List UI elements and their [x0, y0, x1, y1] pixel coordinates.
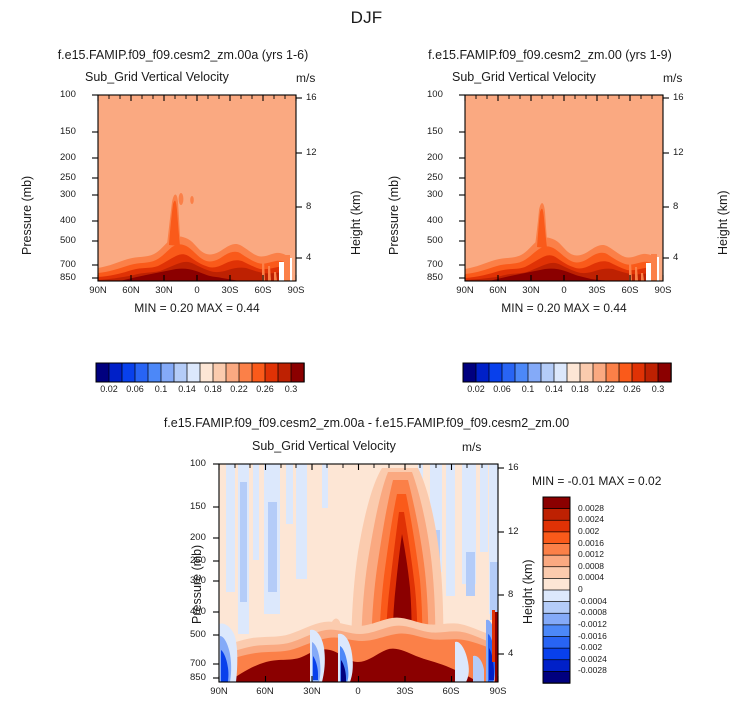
xtick-30N-difference: 30N	[297, 686, 327, 697]
colorbar-labels-right: 0.020.060.10.140.180.220.260.3	[367, 384, 733, 400]
ytick-850-difference: 850	[190, 672, 206, 683]
colorbar-swatch	[543, 532, 570, 544]
colorbar-swatch	[543, 660, 570, 672]
colorbar-vertical-tick-label-10: -0.0012	[578, 619, 638, 629]
colorbar-swatch	[541, 363, 554, 382]
colorbar-swatch	[554, 363, 567, 382]
y2tick-8-difference: 8	[508, 589, 513, 600]
colorbar-vertical-difference: 0.00280.00240.0020.00160.00120.00080.000…	[540, 495, 660, 690]
minmax-top-right: MIN = 0.20 MAX = 0.44	[465, 301, 663, 315]
xtick-0-top-right: 0	[549, 285, 579, 296]
xtick-0-top-left: 0	[182, 285, 212, 296]
panel-top-right: f.e15.FAMIP.f09_f09.cesm2_zm.00 (yrs 1-9…	[367, 40, 733, 390]
xtick-30N-top-left: 30N	[149, 285, 179, 296]
colorbar-swatch	[96, 363, 109, 382]
ytick-300-top-right: 300	[427, 189, 443, 200]
ytick-200-difference: 200	[190, 532, 206, 543]
ytick-150-top-left: 150	[60, 126, 76, 137]
colorbar-swatch	[252, 363, 265, 382]
colorbar-swatch	[135, 363, 148, 382]
colorbar-swatch	[543, 602, 570, 614]
ytick-700-difference: 700	[190, 658, 206, 669]
ytick-850-top-right: 850	[427, 272, 443, 283]
colorbar-swatch	[291, 363, 304, 382]
ytick-400-top-right: 400	[427, 215, 443, 226]
ytick-250-top-left: 250	[60, 172, 76, 183]
ytick-500-difference: 500	[190, 629, 206, 640]
colorbar-swatch	[606, 363, 619, 382]
colorbar-swatch	[109, 363, 122, 382]
colorbar-swatch	[187, 363, 200, 382]
ytick-200-top-right: 200	[427, 152, 443, 163]
colorbar-vertical-tick-label-6: 0.0004	[578, 572, 638, 582]
colorbar-vertical-tick-label-0: 0.0028	[578, 503, 638, 513]
colorbar-swatch	[567, 363, 580, 382]
colorbar-swatch	[148, 363, 161, 382]
colorbar-swatch	[543, 613, 570, 625]
colorbar-swatch	[265, 363, 278, 382]
colorbar-vertical-tick-label-2: 0.002	[578, 526, 638, 536]
colorbar-vertical-tick-label-1: 0.0024	[578, 514, 638, 524]
xtick-30S-top-right: 30S	[582, 285, 612, 296]
ytick-100-top-right: 100	[427, 89, 443, 100]
xtick-30N-top-right: 30N	[516, 285, 546, 296]
xtick-90N-difference: 90N	[204, 686, 234, 697]
y2tick-8-top-right: 8	[673, 201, 678, 212]
colorbar-swatch	[543, 578, 570, 590]
y2tick-16-difference: 16	[508, 462, 519, 473]
ytick-100-difference: 100	[190, 458, 206, 469]
y2tick-4-top-left: 4	[306, 252, 311, 263]
colorbar-horizontal-right: 0.020.060.10.140.180.220.260.3	[367, 358, 733, 403]
colorbar-swatch	[543, 555, 570, 567]
xtick-90S-difference: 90S	[483, 686, 513, 697]
colorbar-vertical-labels: 0.00280.00240.0020.00160.00120.00080.000…	[574, 495, 660, 687]
colorbar-swatch	[632, 363, 645, 382]
colorbar-swatch	[161, 363, 174, 382]
xtick-60S-top-right: 60S	[615, 285, 645, 296]
colorbar-vertical-tick-label-9: -0.0008	[578, 607, 638, 617]
ytick-300-difference: 300	[190, 575, 206, 586]
colorbar-tick-label-right-7: 0.3	[638, 384, 678, 394]
colorbar-swatch	[122, 363, 135, 382]
colorbar-vertical-tick-label-8: -0.0004	[578, 596, 638, 606]
xtick-60N-top-left: 60N	[116, 285, 146, 296]
colorbar-swatch	[226, 363, 239, 382]
colorbar-tick-label-left-7: 0.3	[271, 384, 311, 394]
y2tick-16-top-left: 16	[306, 92, 317, 103]
xtick-60S-difference: 60S	[436, 686, 466, 697]
colorbar-swatch	[543, 648, 570, 660]
page-title: DJF	[0, 8, 733, 28]
ytick-850-top-left: 850	[60, 272, 76, 283]
xtick-90N-top-left: 90N	[83, 285, 113, 296]
colorbar-labels-left: 0.020.060.10.140.180.220.260.3	[0, 384, 366, 400]
colorbar-vertical-tick-label-14: -0.0028	[578, 665, 638, 675]
ytick-500-top-left: 500	[60, 235, 76, 246]
colorbar-swatch	[515, 363, 528, 382]
y2tick-16-top-right: 16	[673, 92, 684, 103]
xtick-0-difference: 0	[343, 686, 373, 697]
colorbar-vertical-tick-label-12: -0.002	[578, 642, 638, 652]
y2tick-4-difference: 4	[508, 648, 513, 659]
colorbar-swatch	[463, 363, 476, 382]
ytick-150-top-right: 150	[427, 126, 443, 137]
colorbar-swatch	[645, 363, 658, 382]
colorbar-horizontal-left: 0.020.060.10.140.180.220.260.3	[0, 358, 366, 403]
colorbar-swatch	[619, 363, 632, 382]
colorbar-swatch	[543, 567, 570, 579]
ytick-500-top-right: 500	[427, 235, 443, 246]
ytick-700-top-left: 700	[60, 259, 76, 270]
colorbar-swatch	[543, 671, 570, 683]
minmax-top-left: MIN = 0.20 MAX = 0.44	[98, 301, 296, 315]
xtick-90S-top-right: 90S	[648, 285, 678, 296]
colorbar-swatch	[543, 637, 570, 649]
xtick-60N-top-right: 60N	[483, 285, 513, 296]
ytick-200-top-left: 200	[60, 152, 76, 163]
ytick-250-difference: 250	[190, 555, 206, 566]
colorbar-swatch	[502, 363, 515, 382]
xtick-60S-top-left: 60S	[248, 285, 278, 296]
colorbar-vertical-tick-label-7: 0	[578, 584, 638, 594]
xtick-30S-top-left: 30S	[215, 285, 245, 296]
colorbar-swatch	[239, 363, 252, 382]
ytick-400-top-left: 400	[60, 215, 76, 226]
ytick-100-top-left: 100	[60, 89, 76, 100]
colorbar-swatch	[580, 363, 593, 382]
colorbar-swatch	[543, 544, 570, 556]
colorbar-swatch	[543, 520, 570, 532]
xtick-30S-difference: 30S	[390, 686, 420, 697]
colorbar-swatches-right	[367, 358, 733, 384]
colorbar-swatch	[476, 363, 489, 382]
colorbar-swatch	[593, 363, 606, 382]
y2tick-8-top-left: 8	[306, 201, 311, 212]
y2tick-12-top-left: 12	[306, 147, 317, 158]
colorbar-swatch	[543, 497, 570, 509]
colorbar-swatch	[543, 590, 570, 602]
y2tick-12-difference: 12	[508, 526, 519, 537]
ytick-300-top-left: 300	[60, 189, 76, 200]
colorbar-vertical-tick-label-13: -0.0024	[578, 654, 638, 664]
y2tick-4-top-right: 4	[673, 252, 678, 263]
xtick-90N-top-right: 90N	[450, 285, 480, 296]
panel-top-left: f.e15.FAMIP.f09_f09.cesm2_zm.00a (yrs 1-…	[0, 40, 366, 390]
colorbar-swatch	[278, 363, 291, 382]
colorbar-swatch	[174, 363, 187, 382]
colorbar-vertical-tick-label-11: -0.0016	[578, 631, 638, 641]
colorbar-swatch	[543, 625, 570, 637]
colorbar-swatch	[213, 363, 226, 382]
ytick-150-difference: 150	[190, 501, 206, 512]
colorbar-vertical-tick-label-4: 0.0012	[578, 549, 638, 559]
colorbar-vertical-tick-label-3: 0.0016	[578, 538, 638, 548]
colorbar-swatches-left	[0, 358, 366, 384]
ytick-400-difference: 400	[190, 606, 206, 617]
y2tick-12-top-right: 12	[673, 147, 684, 158]
colorbar-swatch	[489, 363, 502, 382]
ytick-250-top-right: 250	[427, 172, 443, 183]
colorbar-swatch	[543, 509, 570, 521]
xtick-60N-difference: 60N	[250, 686, 280, 697]
colorbar-swatch	[658, 363, 671, 382]
xtick-90S-top-left: 90S	[281, 285, 311, 296]
ytick-700-top-right: 700	[427, 259, 443, 270]
colorbar-swatch	[528, 363, 541, 382]
colorbar-vertical-tick-label-5: 0.0008	[578, 561, 638, 571]
colorbar-swatch	[200, 363, 213, 382]
